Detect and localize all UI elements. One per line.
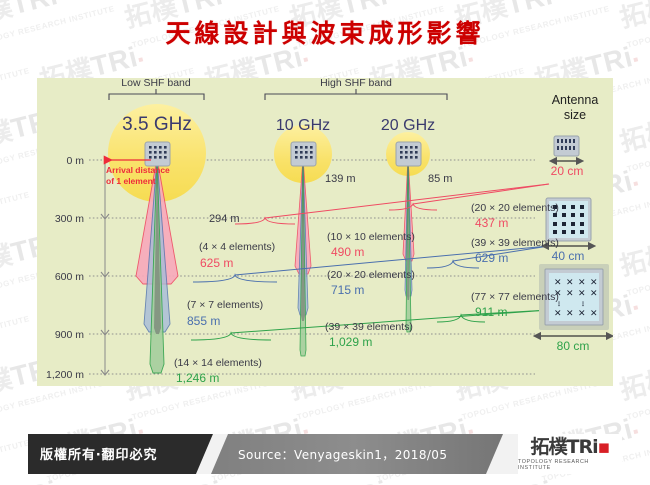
distance-label-c1-s3: 1,246 m — [176, 371, 219, 385]
svg-text:✕: ✕ — [578, 289, 586, 299]
band-label-low: Low SHF band — [121, 78, 191, 89]
svg-text:✕: ✕ — [590, 289, 598, 299]
single-element-distance-20ghz: 85 m — [428, 173, 452, 185]
logo-subtitle: TOPOLOGY RESEARCH INSTITUTE — [518, 459, 622, 471]
elements-label-c1-s1: (4 × 4 elements) — [199, 241, 275, 253]
distance-label-c2-s2: 715 m — [331, 283, 364, 297]
source-text: Source：Venyageskin1，2018/05 — [238, 446, 447, 463]
distance-label-c3-s2: 629 m — [475, 251, 508, 265]
band-label-high: High SHF band — [320, 78, 392, 89]
distance-label-c2-s1: 490 m — [331, 245, 364, 259]
y-tick-600: 600 m — [55, 271, 84, 283]
elements-label-c2-s3: (39 × 39 elements) — [325, 321, 413, 333]
elements-label-c1-s2: (7 × 7 elements) — [187, 299, 263, 311]
watermark-tile: 拓樸TRi▪TOPOLOGY RESEARCH INSTITUTE — [616, 334, 650, 424]
distance-label-c3-s3: 911 m — [475, 305, 507, 319]
frequency-label-3p5ghz: 3.5 GHz — [122, 114, 192, 135]
single-element-distance-10ghz: 139 m — [325, 173, 356, 185]
y-tick-900: 900 m — [55, 329, 84, 341]
svg-text:✕: ✕ — [566, 309, 574, 319]
antenna-size-heading-line2: size — [564, 108, 586, 122]
footer-bar: 版權所有‧翻印必究 Source：Venyageskin1，2018/05 拓樸… — [28, 434, 622, 474]
elements-label-c2-s2: (20 × 20 elements) — [327, 269, 415, 281]
beamforming-diagram: ✕✕✕✕ ✕✕✕✕ ⋮⋮ ✕✕✕✕ Low SHF band High SHF … — [37, 78, 613, 386]
antenna-icon-20ghz — [396, 142, 421, 166]
frequency-label-10ghz: 10 GHz — [276, 117, 330, 134]
antenna-size-heading-line1: Antenna — [552, 93, 599, 107]
antenna-size-label-40cm: 40 cm — [552, 249, 585, 263]
svg-text:✕: ✕ — [590, 309, 598, 319]
svg-text:✕: ✕ — [566, 289, 574, 299]
elements-label-c2-s1: (10 × 10 elements) — [327, 231, 415, 243]
antenna-icon-10ghz — [291, 142, 316, 166]
watermark-tile: 拓樸TRi▪TOPOLOGY RESEARCH INSTITUTE — [616, 86, 650, 176]
elements-label-c3-s3: (77 × 77 elements) — [471, 291, 559, 303]
distance-label-c1-s1: 625 m — [200, 256, 233, 270]
single-element-distance-3p5ghz: 294 m — [209, 213, 240, 225]
antenna-size-label-80cm: 80 cm — [557, 339, 590, 353]
y-tick-0: 0 m — [66, 155, 84, 167]
y-tick-1200: 1,200 m — [46, 369, 84, 381]
watermark-tile: 拓樸TRi▪TOPOLOGY RESEARCH INSTITUTE — [616, 210, 650, 300]
svg-text:✕: ✕ — [554, 309, 562, 319]
svg-text:⋮: ⋮ — [580, 301, 586, 308]
watermark-tile: 拓樸TRi▪TOPOLOGY RESEARCH INSTITUTE — [0, 272, 31, 362]
elements-label-c3-s1: (20 × 20 elements) — [471, 202, 559, 214]
watermark-tile: 拓樸TRi▪TOPOLOGY RESEARCH INSTITUTE — [0, 396, 31, 485]
distance-label-c3-s1: 437 m — [475, 216, 508, 230]
arrival-distance-label-line1: Arrival distance — [106, 165, 170, 175]
page-title: 天線設計與波束成形影響 — [0, 14, 650, 50]
logo-cjk: 拓樸 — [530, 436, 566, 458]
svg-text:✕: ✕ — [566, 278, 574, 288]
frequency-label-20ghz: 20 GHz — [381, 117, 435, 134]
copyright-text: 版權所有‧翻印必究 — [40, 444, 158, 463]
svg-text:✕: ✕ — [590, 278, 598, 288]
distance-label-c2-s3: 1,029 m — [329, 335, 372, 349]
watermark-tile: 拓樸TRi▪TOPOLOGY RESEARCH INSTITUTE — [0, 148, 31, 238]
distance-label-c1-s2: 855 m — [187, 314, 220, 328]
tri-logo: 拓樸TRi▪ TOPOLOGY RESEARCH INSTITUTE — [518, 434, 622, 474]
svg-text:✕: ✕ — [578, 278, 586, 288]
antenna-size-label-20cm: 20 cm — [551, 164, 584, 178]
svg-text:✕: ✕ — [578, 309, 586, 319]
logo-latin: TRi — [567, 436, 598, 458]
arrival-distance-label-line2: of 1 element — [106, 176, 156, 186]
y-tick-300: 300 m — [55, 213, 84, 225]
antenna-icon-3p5ghz — [145, 142, 170, 166]
svg-text:✕: ✕ — [554, 278, 562, 288]
elements-label-c1-s3: (14 × 14 elements) — [174, 357, 262, 369]
logo-red-dot: ▪ — [598, 436, 610, 458]
elements-label-c3-s2: (39 × 39 elements) — [471, 237, 559, 249]
